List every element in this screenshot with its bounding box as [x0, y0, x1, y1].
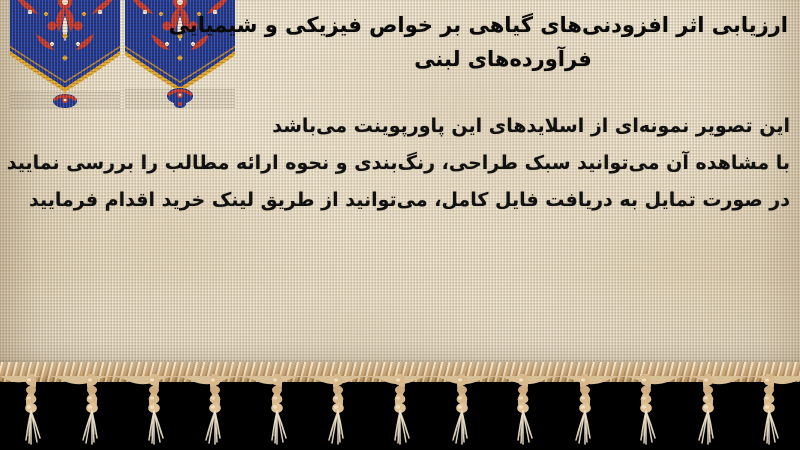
slide-title: ارزیابی اثر افزودنی‌های گیاهی بر خواص فی…: [218, 8, 788, 76]
fringe-tassel: [325, 374, 351, 446]
fringe-tassel: [18, 374, 44, 446]
fringe-tassel: [633, 374, 659, 446]
fringe-tassel: [387, 374, 413, 446]
persian-medallion-left-icon: [10, 0, 120, 108]
fringe-tassel: [264, 374, 290, 446]
carpet-fringe: [0, 362, 800, 450]
fringe-tassel: [449, 374, 475, 446]
fringe-tassel: [141, 374, 167, 446]
fringe-tassel: [572, 374, 598, 446]
fringe-tassel: [202, 374, 228, 446]
fringe-tassel: [695, 374, 721, 446]
body-line-2: با مشاهده آن می‌توانید سبک طراحی، رنگ‌بن…: [8, 145, 790, 182]
title-line-1: ارزیابی اثر افزودنی‌های گیاهی بر خواص فی…: [218, 8, 788, 42]
fringe-tassel: [510, 374, 536, 446]
body-line-3: در صورت تمایل به دریافت فایل کامل، می‌تو…: [8, 182, 790, 219]
presentation-slide: ارزیابی اثر افزودنی‌های گیاهی بر خواص فی…: [0, 0, 800, 450]
fringe-tassel: [756, 374, 782, 446]
fringe-tassel: [79, 374, 105, 446]
title-line-2: فرآورده‌های لبنی: [218, 42, 788, 76]
body-line-1: این تصویر نمونه‌ای از اسلایدهای این پاور…: [8, 108, 790, 145]
slide-body: این تصویر نمونه‌ای از اسلایدهای این پاور…: [8, 108, 790, 219]
